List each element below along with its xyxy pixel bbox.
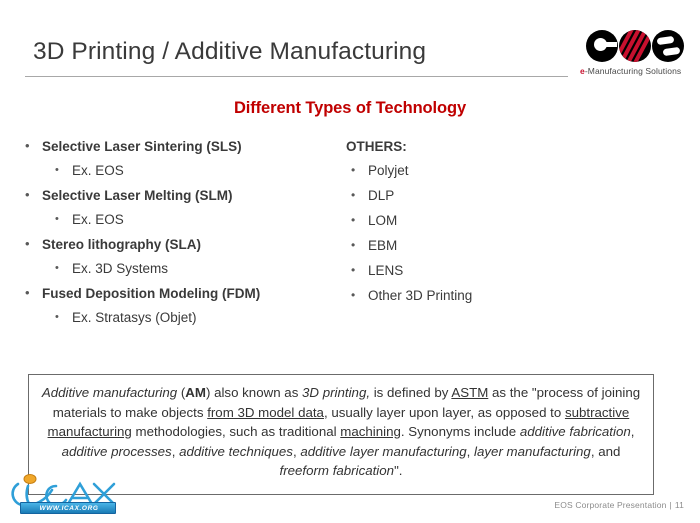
bullet-icon: •: [55, 261, 59, 275]
list-item-label: Selective Laser Sintering (SLS): [42, 139, 242, 154]
list-item-label: Fused Deposition Modeling (FDM): [42, 286, 260, 301]
others-heading: OTHERS:: [343, 140, 663, 154]
list-item-label: Ex. Stratasys (Objet): [72, 310, 197, 325]
footer-presentation-name: EOS Corporate Presentation: [554, 500, 666, 510]
content-area: • Selective Laser Sintering (SLS) • Ex. …: [0, 140, 700, 355]
slide-footer: EOS Corporate Presentation|11: [554, 500, 684, 510]
footer-page-number: 11: [675, 500, 684, 510]
bullet-icon: •: [351, 163, 355, 177]
bullet-icon: •: [351, 238, 355, 252]
bullet-icon: •: [25, 139, 30, 153]
list-item-label: Selective Laser Melting (SLM): [42, 188, 233, 203]
list-item-label: Other 3D Printing: [368, 288, 472, 303]
bullet-icon: •: [55, 310, 59, 324]
eos-red-stripes-icon: [619, 30, 651, 62]
bullet-icon: •: [351, 188, 355, 202]
list-item-label: EBM: [368, 238, 397, 253]
list-item: • Selective Laser Melting (SLM): [18, 189, 338, 203]
list-item: • Ex. 3D Systems: [18, 262, 338, 276]
eos-logo-mark: [586, 30, 684, 62]
list-item: • Ex. Stratasys (Objet): [18, 311, 338, 325]
eos-letter-s-icon: [652, 30, 684, 62]
list-item: • Polyjet: [343, 164, 663, 178]
list-item-label: Ex. EOS: [72, 212, 124, 227]
eos-tagline-rest: -Manufacturing Solutions: [585, 66, 681, 76]
list-item-label: DLP: [368, 188, 394, 203]
icax-watermark-logo[interactable]: WWW.ICAX.ORG: [6, 470, 124, 520]
list-item-label: LENS: [368, 263, 403, 278]
list-item-label: Stereo lithography (SLA): [42, 237, 201, 252]
bullet-icon: •: [351, 288, 355, 302]
eos-tagline: e-Manufacturing Solutions: [580, 66, 681, 76]
bullet-icon: •: [55, 163, 59, 177]
list-item: • Fused Deposition Modeling (FDM): [18, 287, 338, 301]
slide: 3D Printing / Additive Manufacturing e-M…: [0, 0, 700, 523]
bullet-icon: •: [25, 237, 30, 251]
icax-url-banner: WWW.ICAX.ORG: [20, 502, 116, 514]
page-title: 3D Printing / Additive Manufacturing: [33, 38, 426, 66]
list-item: • LENS: [343, 264, 663, 278]
footer-separator: |: [670, 500, 672, 510]
eos-letter-e-icon: [586, 30, 618, 62]
left-column: • Selective Laser Sintering (SLS) • Ex. …: [18, 140, 338, 336]
title-divider: [25, 76, 568, 77]
list-item: • LOM: [343, 214, 663, 228]
list-item: • Ex. EOS: [18, 213, 338, 227]
right-column: OTHERS: • Polyjet • DLP • LOM • EBM • LE…: [343, 140, 663, 314]
list-item: • Ex. EOS: [18, 164, 338, 178]
bullet-icon: •: [25, 286, 30, 300]
icax-url-text: WWW.ICAX.ORG: [21, 503, 117, 515]
list-item: • EBM: [343, 239, 663, 253]
list-item-label: Ex. EOS: [72, 163, 124, 178]
list-item-label: Ex. 3D Systems: [72, 261, 168, 276]
bullet-icon: •: [351, 263, 355, 277]
bullet-icon: •: [55, 212, 59, 226]
section-subtitle: Different Types of Technology: [0, 99, 700, 118]
eos-logo: e-Manufacturing Solutions: [578, 30, 690, 78]
bullet-icon: •: [25, 188, 30, 202]
definition-text: Additive manufacturing (AM) also known a…: [29, 375, 653, 481]
list-item-label: Polyjet: [368, 163, 409, 178]
bullet-icon: •: [351, 213, 355, 227]
list-item-label: LOM: [368, 213, 397, 228]
list-item: • DLP: [343, 189, 663, 203]
slide-header: 3D Printing / Additive Manufacturing e-M…: [0, 0, 700, 84]
eos-letter-o-icon: [619, 30, 651, 62]
list-item: • Other 3D Printing: [343, 289, 663, 303]
list-item: • Stereo lithography (SLA): [18, 238, 338, 252]
list-item: • Selective Laser Sintering (SLS): [18, 140, 338, 154]
